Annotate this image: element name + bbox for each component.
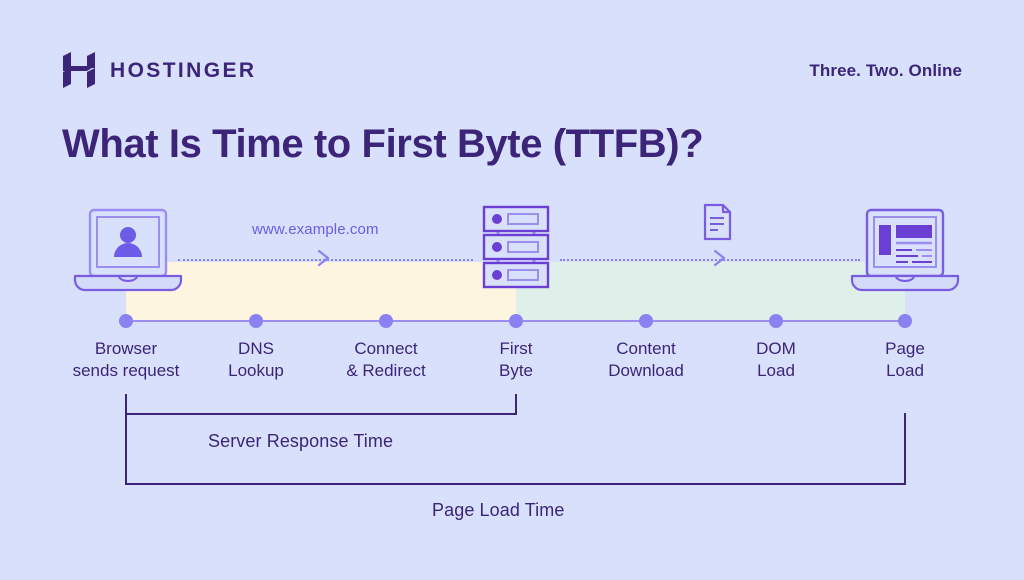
- bracket-label-server-response-time: Server Response Time: [208, 431, 393, 452]
- measure-brackets: [0, 0, 1024, 580]
- ttfb-timeline-diagram: www.example.com: [0, 0, 1024, 580]
- bracket-label-page-load-time: Page Load Time: [432, 500, 565, 521]
